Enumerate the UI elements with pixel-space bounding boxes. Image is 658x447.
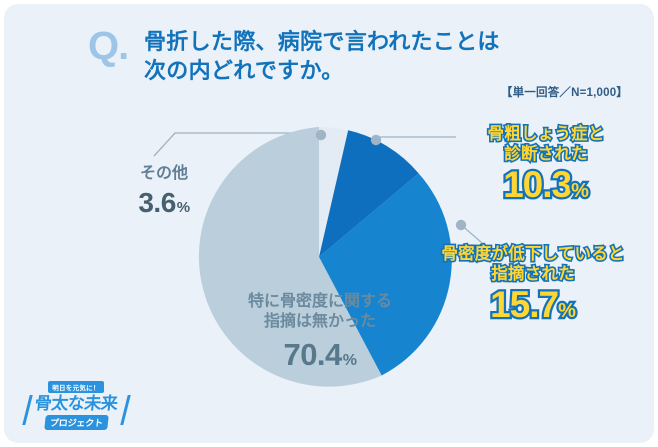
- logo-tagline: 明日を元気に！: [48, 381, 104, 393]
- logo-main-text: 骨太な未来: [23, 395, 129, 413]
- slice-label-none: 特に骨密度に関する 指摘は無かった 70.4%: [220, 292, 420, 375]
- slice-label-none-value: 70.4%: [220, 335, 420, 375]
- logo-sub-text: プロジェクト: [44, 415, 108, 430]
- slice-value-osteo-percent: %: [571, 180, 589, 202]
- slice-label-other: その他 3.6%: [104, 164, 224, 221]
- slice-callout-density-line-2: 指摘された: [414, 264, 652, 284]
- slice-label-other-value: 3.6%: [104, 185, 224, 221]
- leader-dot-osteo: [371, 135, 381, 145]
- slice-label-none-line-2: 指摘は無かった: [220, 312, 420, 332]
- slice-value-other-number: 3.6: [138, 187, 175, 218]
- slice-value-density-number: 15.7: [490, 284, 558, 325]
- slice-callout-osteo-line-2: 診断された: [446, 144, 646, 164]
- slice-label-other-text: その他: [104, 164, 224, 184]
- slice-callout-density-value: 15.7%: [414, 286, 652, 325]
- slice-value-density-percent: %: [558, 300, 576, 322]
- infographic-card: Q. 骨折した際、病院で言われたことは 次の内どれですか。 【単一回答／N=1,…: [4, 4, 654, 443]
- slice-value-osteo-number: 10.3: [503, 164, 571, 205]
- slice-callout-osteo: 骨粗しょう症と 診断された 10.3%: [446, 124, 646, 205]
- slice-callout-density: 骨密度が低下していると 指摘された 15.7%: [414, 244, 652, 325]
- leader-dot-other: [316, 130, 326, 140]
- slice-callout-osteo-value: 10.3%: [446, 166, 646, 205]
- slice-callout-density-line-1: 骨密度が低下していると: [414, 244, 652, 264]
- slice-value-other-percent: %: [177, 199, 190, 216]
- slice-value-none-percent: %: [343, 352, 357, 369]
- project-logo: 明日を元気に！ 骨太な未来 プロジェクト: [24, 377, 128, 431]
- leader-dot-density: [456, 220, 466, 230]
- slice-value-none-number: 70.4: [283, 337, 341, 372]
- slice-label-none-line-1: 特に骨密度に関する: [220, 292, 420, 312]
- slice-callout-osteo-line-1: 骨粗しょう症と: [446, 124, 646, 144]
